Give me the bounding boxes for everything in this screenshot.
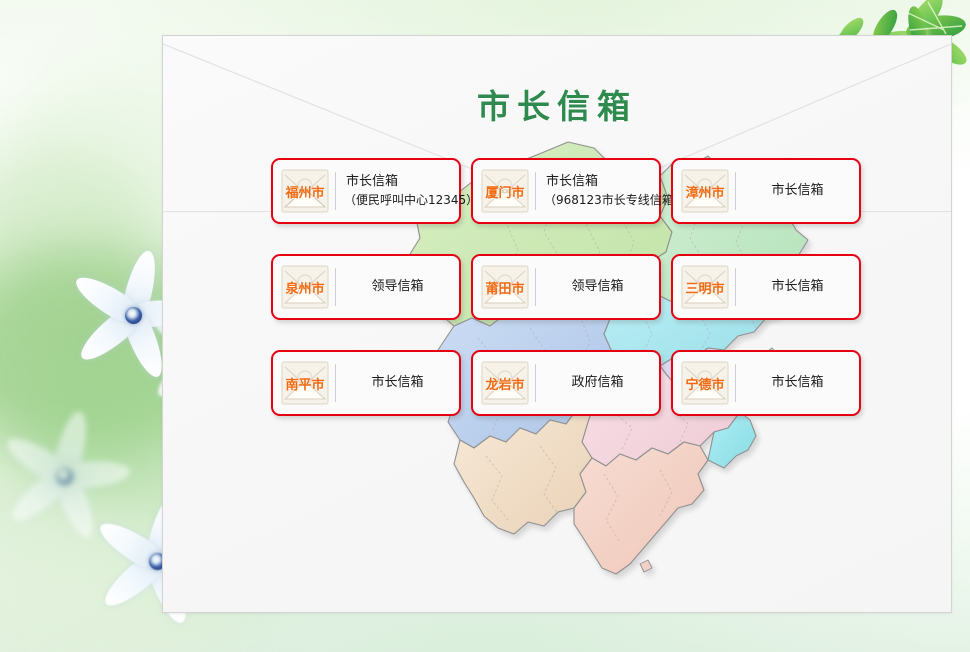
map-island <box>640 560 652 572</box>
card-title: 市长信箱 <box>742 278 853 297</box>
mailbox-card-ningde[interactable]: 宁德市 市长信箱 <box>671 350 861 416</box>
card-text: 领导信箱 <box>542 278 659 297</box>
city-label: 泉州市 <box>285 278 324 297</box>
card-title: 市长信箱 <box>342 374 453 393</box>
card-title: 市长信箱 <box>742 374 853 393</box>
card-text: 市长信箱 <box>342 374 459 393</box>
card-text: 市长信箱 <box>742 374 859 393</box>
mailbox-card-nanping[interactable]: 南平市 市长信箱 <box>271 350 461 416</box>
envelope-icon: 莆田市 <box>479 263 531 311</box>
envelope-icon: 厦门市 <box>479 167 531 215</box>
card-text: 市长信箱 （便民呼叫中心12345） <box>342 173 484 209</box>
envelope-icon: 宁德市 <box>679 359 731 407</box>
card-divider <box>735 364 736 402</box>
card-title: 市长信箱 <box>742 182 853 201</box>
background-blur-blob <box>0 150 160 300</box>
card-divider <box>535 364 536 402</box>
card-title: 政府信箱 <box>542 374 653 393</box>
card-divider <box>535 268 536 306</box>
card-divider <box>735 172 736 210</box>
letter-panel: 市长信箱 <box>162 35 952 613</box>
card-title: 市长信箱 <box>344 173 478 192</box>
city-label: 厦门市 <box>485 182 524 201</box>
card-divider <box>735 268 736 306</box>
card-divider <box>335 268 336 306</box>
city-label: 莆田市 <box>485 278 524 297</box>
city-label: 南平市 <box>285 374 324 393</box>
mailbox-card-zhangzhou[interactable]: 漳州市 市长信箱 <box>671 158 861 224</box>
card-divider <box>335 172 336 210</box>
city-label: 宁德市 <box>685 374 724 393</box>
card-divider <box>535 172 536 210</box>
map-region-zhangzhou <box>574 442 708 574</box>
envelope-icon: 南平市 <box>279 359 331 407</box>
card-text: 政府信箱 <box>542 374 659 393</box>
envelope-icon: 泉州市 <box>279 263 331 311</box>
envelope-icon: 福州市 <box>279 167 331 215</box>
card-title: 领导信箱 <box>542 278 653 297</box>
mailbox-card-sanming[interactable]: 三明市 市长信箱 <box>671 254 861 320</box>
city-label: 三明市 <box>685 278 724 297</box>
city-label: 龙岩市 <box>485 374 524 393</box>
card-title: 市长信箱 <box>544 173 686 192</box>
card-subtitle: （便民呼叫中心12345） <box>344 192 478 209</box>
card-divider <box>335 364 336 402</box>
card-text: 市长信箱 （968123市长专线信箱） <box>542 173 692 209</box>
mailbox-card-fuzhou[interactable]: 福州市 市长信箱 （便民呼叫中心12345） <box>271 158 461 224</box>
card-title: 领导信箱 <box>342 278 453 297</box>
card-text: 市长信箱 <box>742 182 859 201</box>
city-label: 漳州市 <box>685 182 724 201</box>
envelope-icon: 漳州市 <box>679 167 731 215</box>
envelope-icon: 三明市 <box>679 263 731 311</box>
mailbox-card-longyan[interactable]: 龙岩市 政府信箱 <box>471 350 661 416</box>
envelope-icon: 龙岩市 <box>479 359 531 407</box>
card-subtitle: （968123市长专线信箱） <box>544 192 686 209</box>
city-label: 福州市 <box>285 182 324 201</box>
mailbox-card-quanzhou[interactable]: 泉州市 领导信箱 <box>271 254 461 320</box>
mailbox-card-putian[interactable]: 莆田市 领导信箱 <box>471 254 661 320</box>
page-title: 市长信箱 <box>163 80 951 128</box>
card-text: 市长信箱 <box>742 278 859 297</box>
mailbox-card-grid: 福州市 市长信箱 （便民呼叫中心12345） 厦门市 市长信箱 <box>271 158 861 416</box>
card-text: 领导信箱 <box>342 278 459 297</box>
mailbox-card-xiamen[interactable]: 厦门市 市长信箱 （968123市长专线信箱） <box>471 158 661 224</box>
